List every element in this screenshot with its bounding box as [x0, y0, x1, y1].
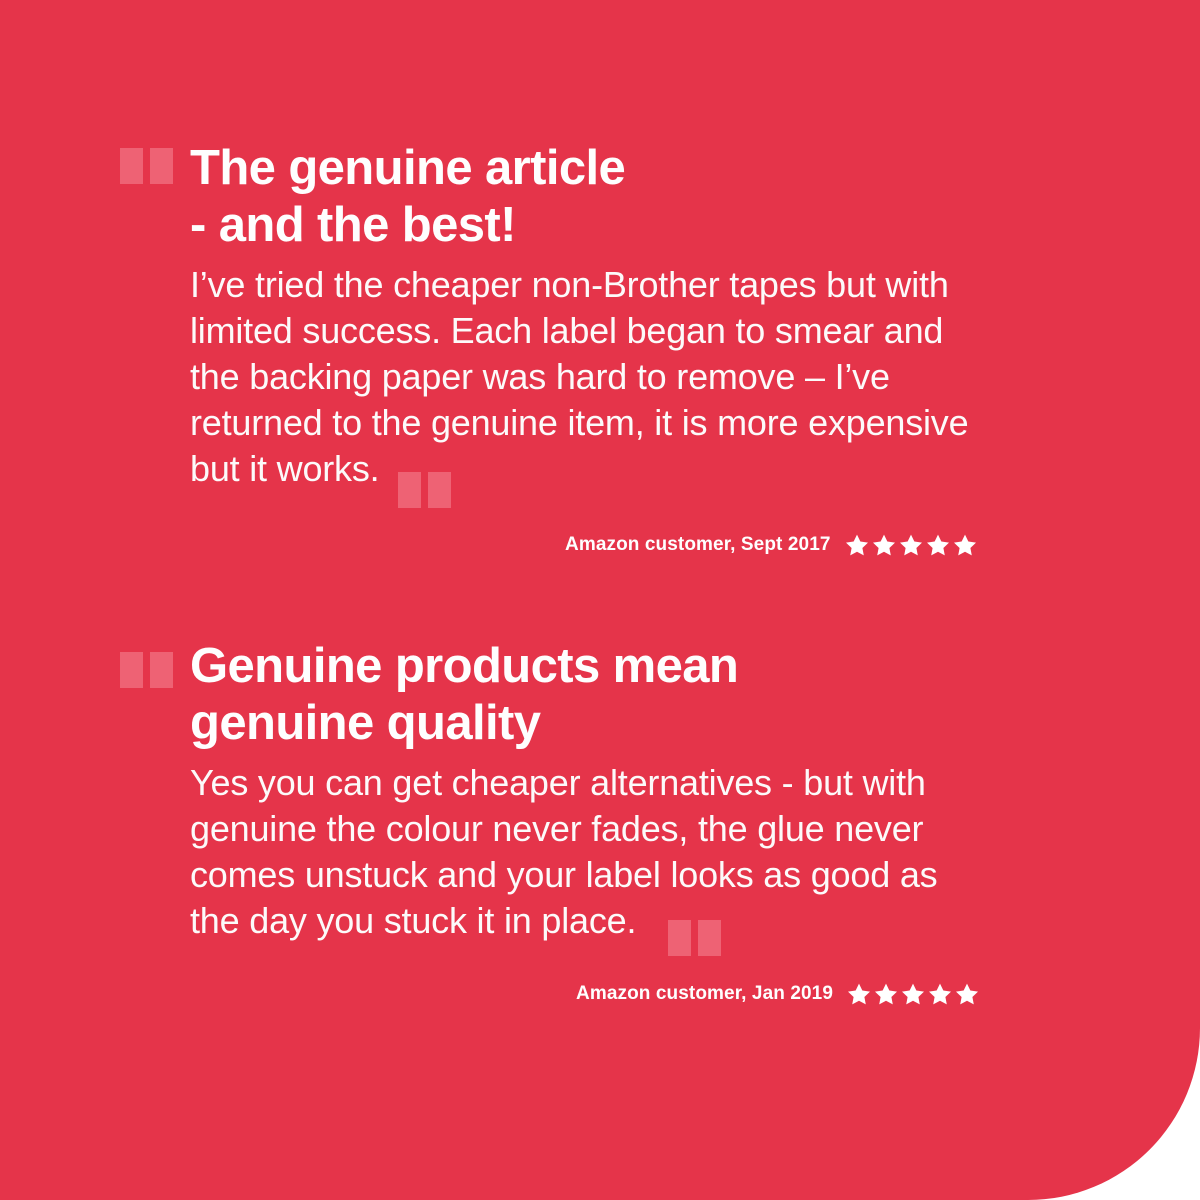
review-body: Yes you can get cheaper alternatives - b… — [190, 760, 1002, 944]
star-icon — [953, 533, 977, 557]
review-body-line: the backing paper was hard to remove – I… — [190, 354, 1002, 400]
review-heading: The genuine article - and the best! — [190, 140, 1070, 254]
review-body-line: I’ve tried the cheaper non-Brother tapes… — [190, 262, 1002, 308]
review-author: Amazon customer, Jan 2019 — [576, 983, 833, 1005]
review-body-line: the day you stuck it in place. — [190, 898, 1002, 944]
review-body-line: but it works. — [190, 446, 1002, 492]
review-body-line: limited success. Each label began to sme… — [190, 308, 1002, 354]
star-icon — [872, 533, 896, 557]
review-author: Amazon customer, Sept 2017 — [565, 534, 831, 556]
review-attribution: Amazon customer, Jan 2019 — [576, 982, 979, 1006]
rating-stars — [845, 533, 977, 557]
rating-stars — [847, 982, 979, 1006]
review-body-line: genuine the colour never fades, the glue… — [190, 806, 1002, 852]
star-icon — [874, 982, 898, 1006]
review-attribution: Amazon customer, Sept 2017 — [565, 533, 977, 557]
star-icon — [928, 982, 952, 1006]
review-body-line: returned to the genuine item, it is more… — [190, 400, 1002, 446]
review-body-line: comes unstuck and your label looks as go… — [190, 852, 1002, 898]
star-icon — [847, 982, 871, 1006]
review-body-line: Yes you can get cheaper alternatives - b… — [190, 760, 1002, 806]
star-icon — [926, 533, 950, 557]
review-heading-line: - and the best! — [190, 197, 1070, 254]
reviews-card: The genuine article - and the best! I’ve… — [0, 0, 1200, 1200]
star-icon — [901, 982, 925, 1006]
star-icon — [899, 533, 923, 557]
star-icon — [845, 533, 869, 557]
star-icon — [955, 982, 979, 1006]
review-heading-line: genuine quality — [190, 695, 1070, 752]
review-body: I’ve tried the cheaper non-Brother tapes… — [190, 262, 1002, 492]
review-heading: Genuine products mean genuine quality — [190, 638, 1070, 752]
review-heading-line: Genuine products mean — [190, 638, 1070, 695]
review-heading-line: The genuine article — [190, 140, 1070, 197]
